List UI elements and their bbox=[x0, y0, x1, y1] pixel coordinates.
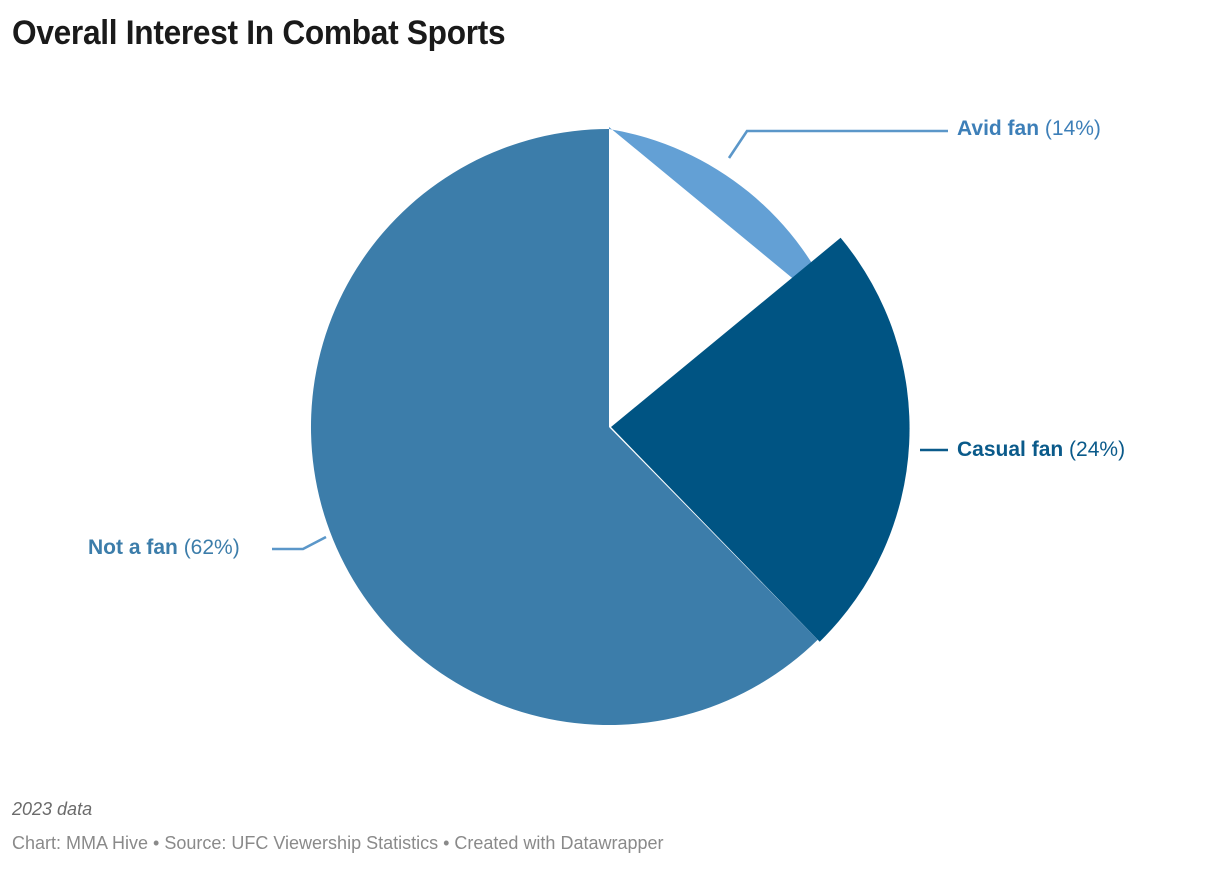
slice-label-avid-fan[interactable]: Avid fan (14%) bbox=[957, 118, 1101, 139]
slice-label-not-a-fan[interactable]: Not a fan (62%) bbox=[88, 537, 240, 558]
slice-label-casual-fan-value: (24%) bbox=[1069, 438, 1125, 461]
slice-label-not-a-fan-value: (62%) bbox=[184, 536, 240, 559]
chart-footer: 2023 data Chart: MMA Hive • Source: UFC … bbox=[12, 799, 1192, 854]
slice-label-avid-fan-name: Avid fan bbox=[957, 117, 1039, 140]
slice-label-casual-fan-name: Casual fan bbox=[957, 438, 1063, 461]
slice-label-not-a-fan-name: Not a fan bbox=[88, 536, 178, 559]
leader-line-not-a-fan bbox=[272, 537, 326, 549]
leader-line-avid-fan bbox=[729, 131, 948, 158]
footer-note: 2023 data bbox=[12, 799, 1192, 820]
footer-credit: Chart: MMA Hive • Source: UFC Viewership… bbox=[12, 833, 1192, 854]
slice-label-avid-fan-value: (14%) bbox=[1045, 117, 1101, 140]
slice-label-casual-fan[interactable]: Casual fan (24%) bbox=[957, 439, 1125, 460]
